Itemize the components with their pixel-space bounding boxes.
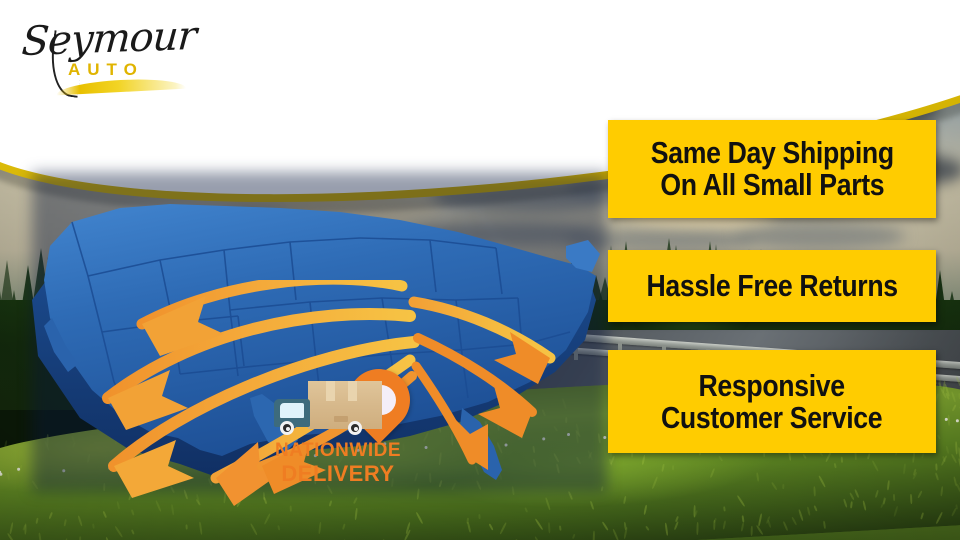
callout-responsive-customer-service[interactable]: Responsive Customer Service [608, 350, 936, 453]
callout-text: Hassle Free Returns [646, 270, 897, 302]
callout-group: Same Day Shipping On All Small Parts Has… [0, 0, 960, 540]
callout-hassle-free-returns[interactable]: Hassle Free Returns [608, 250, 936, 322]
promo-banner: Seymour AUTO [0, 0, 960, 540]
callout-text: Responsive Customer Service [661, 370, 882, 433]
callout-same-day-shipping[interactable]: Same Day Shipping On All Small Parts [608, 120, 936, 218]
callout-text: Same Day Shipping On All Small Parts [650, 137, 893, 200]
